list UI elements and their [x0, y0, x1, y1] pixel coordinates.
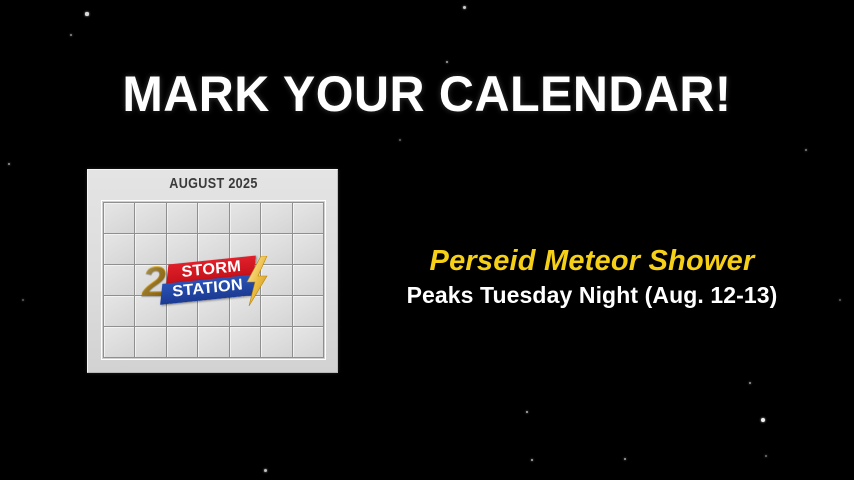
star: [399, 139, 401, 141]
calendar-day-cell: [104, 203, 134, 233]
calendar-day-cell: [104, 234, 134, 264]
calendar-grid-frame: [101, 200, 326, 360]
caption-subtext: Peaks Tuesday Night (Aug. 12-13): [330, 282, 854, 309]
star: [70, 34, 72, 36]
page-title: MARK YOUR CALENDAR!: [13, 68, 841, 120]
star: [761, 418, 765, 422]
calendar-day-cell: [198, 265, 228, 295]
calendar-month-title: AUGUST 2025: [108, 175, 319, 192]
calendar-grid: [103, 202, 324, 358]
calendar-day-cell: [293, 327, 323, 357]
calendar-day-cell: [230, 296, 260, 326]
calendar-day-cell: [167, 234, 197, 264]
calendar-day-cell: [198, 234, 228, 264]
star: [749, 382, 752, 385]
calendar-day-cell: [293, 296, 323, 326]
calendar-day-cell: [167, 203, 197, 233]
star: [446, 61, 449, 64]
calendar-day-cell: [135, 296, 165, 326]
calendar-day-cell: [167, 296, 197, 326]
star: [85, 12, 88, 15]
star: [463, 6, 466, 9]
calendar-day-cell: [135, 234, 165, 264]
calendar-day-cell: [135, 327, 165, 357]
caption-block: Perseid Meteor Shower Peaks Tuesday Nigh…: [330, 244, 854, 309]
calendar-day-cell: [261, 265, 291, 295]
calendar-day-cell: [293, 265, 323, 295]
calendar-day-cell: [104, 265, 134, 295]
star: [765, 455, 767, 457]
calendar-day-cell: [293, 203, 323, 233]
calendar-day-cell: [104, 296, 134, 326]
calendar-day-cell: [261, 234, 291, 264]
calendar-day-cell: [230, 265, 260, 295]
star: [805, 149, 807, 151]
calendar-day-cell: [230, 203, 260, 233]
calendar-day-cell: [167, 265, 197, 295]
calendar-day-cell: [261, 327, 291, 357]
star: [8, 163, 10, 165]
calendar-day-cell: [293, 234, 323, 264]
calendar-day-cell: [167, 327, 197, 357]
calendar-day-cell: [198, 296, 228, 326]
caption-headline: Perseid Meteor Shower: [330, 244, 854, 278]
calendar-day-cell: [198, 327, 228, 357]
calendar-day-cell: [104, 327, 134, 357]
calendar-day-cell: [230, 234, 260, 264]
calendar-day-cell: [230, 327, 260, 357]
calendar-day-cell: [198, 203, 228, 233]
calendar-day-cell: [135, 265, 165, 295]
star: [531, 459, 534, 462]
calendar-day-cell: [261, 203, 291, 233]
broadcast-graphic-slate: MARK YOUR CALENDAR! AUGUST 2025 2 STORM …: [0, 0, 854, 480]
calendar-day-cell: [135, 203, 165, 233]
calendar-graphic: AUGUST 2025 2 STORM STATION: [87, 169, 338, 373]
star: [624, 458, 627, 461]
star: [22, 299, 24, 301]
star: [264, 469, 267, 472]
calendar-day-cell: [261, 296, 291, 326]
star: [526, 411, 529, 414]
